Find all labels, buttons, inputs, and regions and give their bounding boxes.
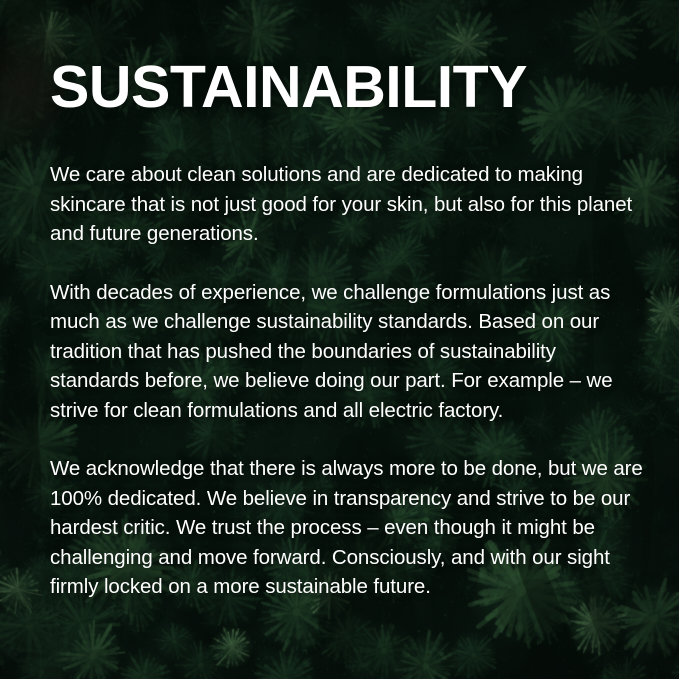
paragraph-commitment: We acknowledge that there is always more… [50, 454, 646, 602]
sustainability-poster: SUSTAINABILITY We care about clean solut… [0, 0, 679, 679]
poster-content: SUSTAINABILITY We care about clean solut… [50, 0, 646, 679]
page-title: SUSTAINABILITY [50, 56, 527, 118]
body-copy: We care about clean solutions and are de… [50, 160, 646, 602]
paragraph-intro: We care about clean solutions and are de… [50, 160, 646, 249]
paragraph-formulations: With decades of experience, we challenge… [50, 278, 646, 426]
